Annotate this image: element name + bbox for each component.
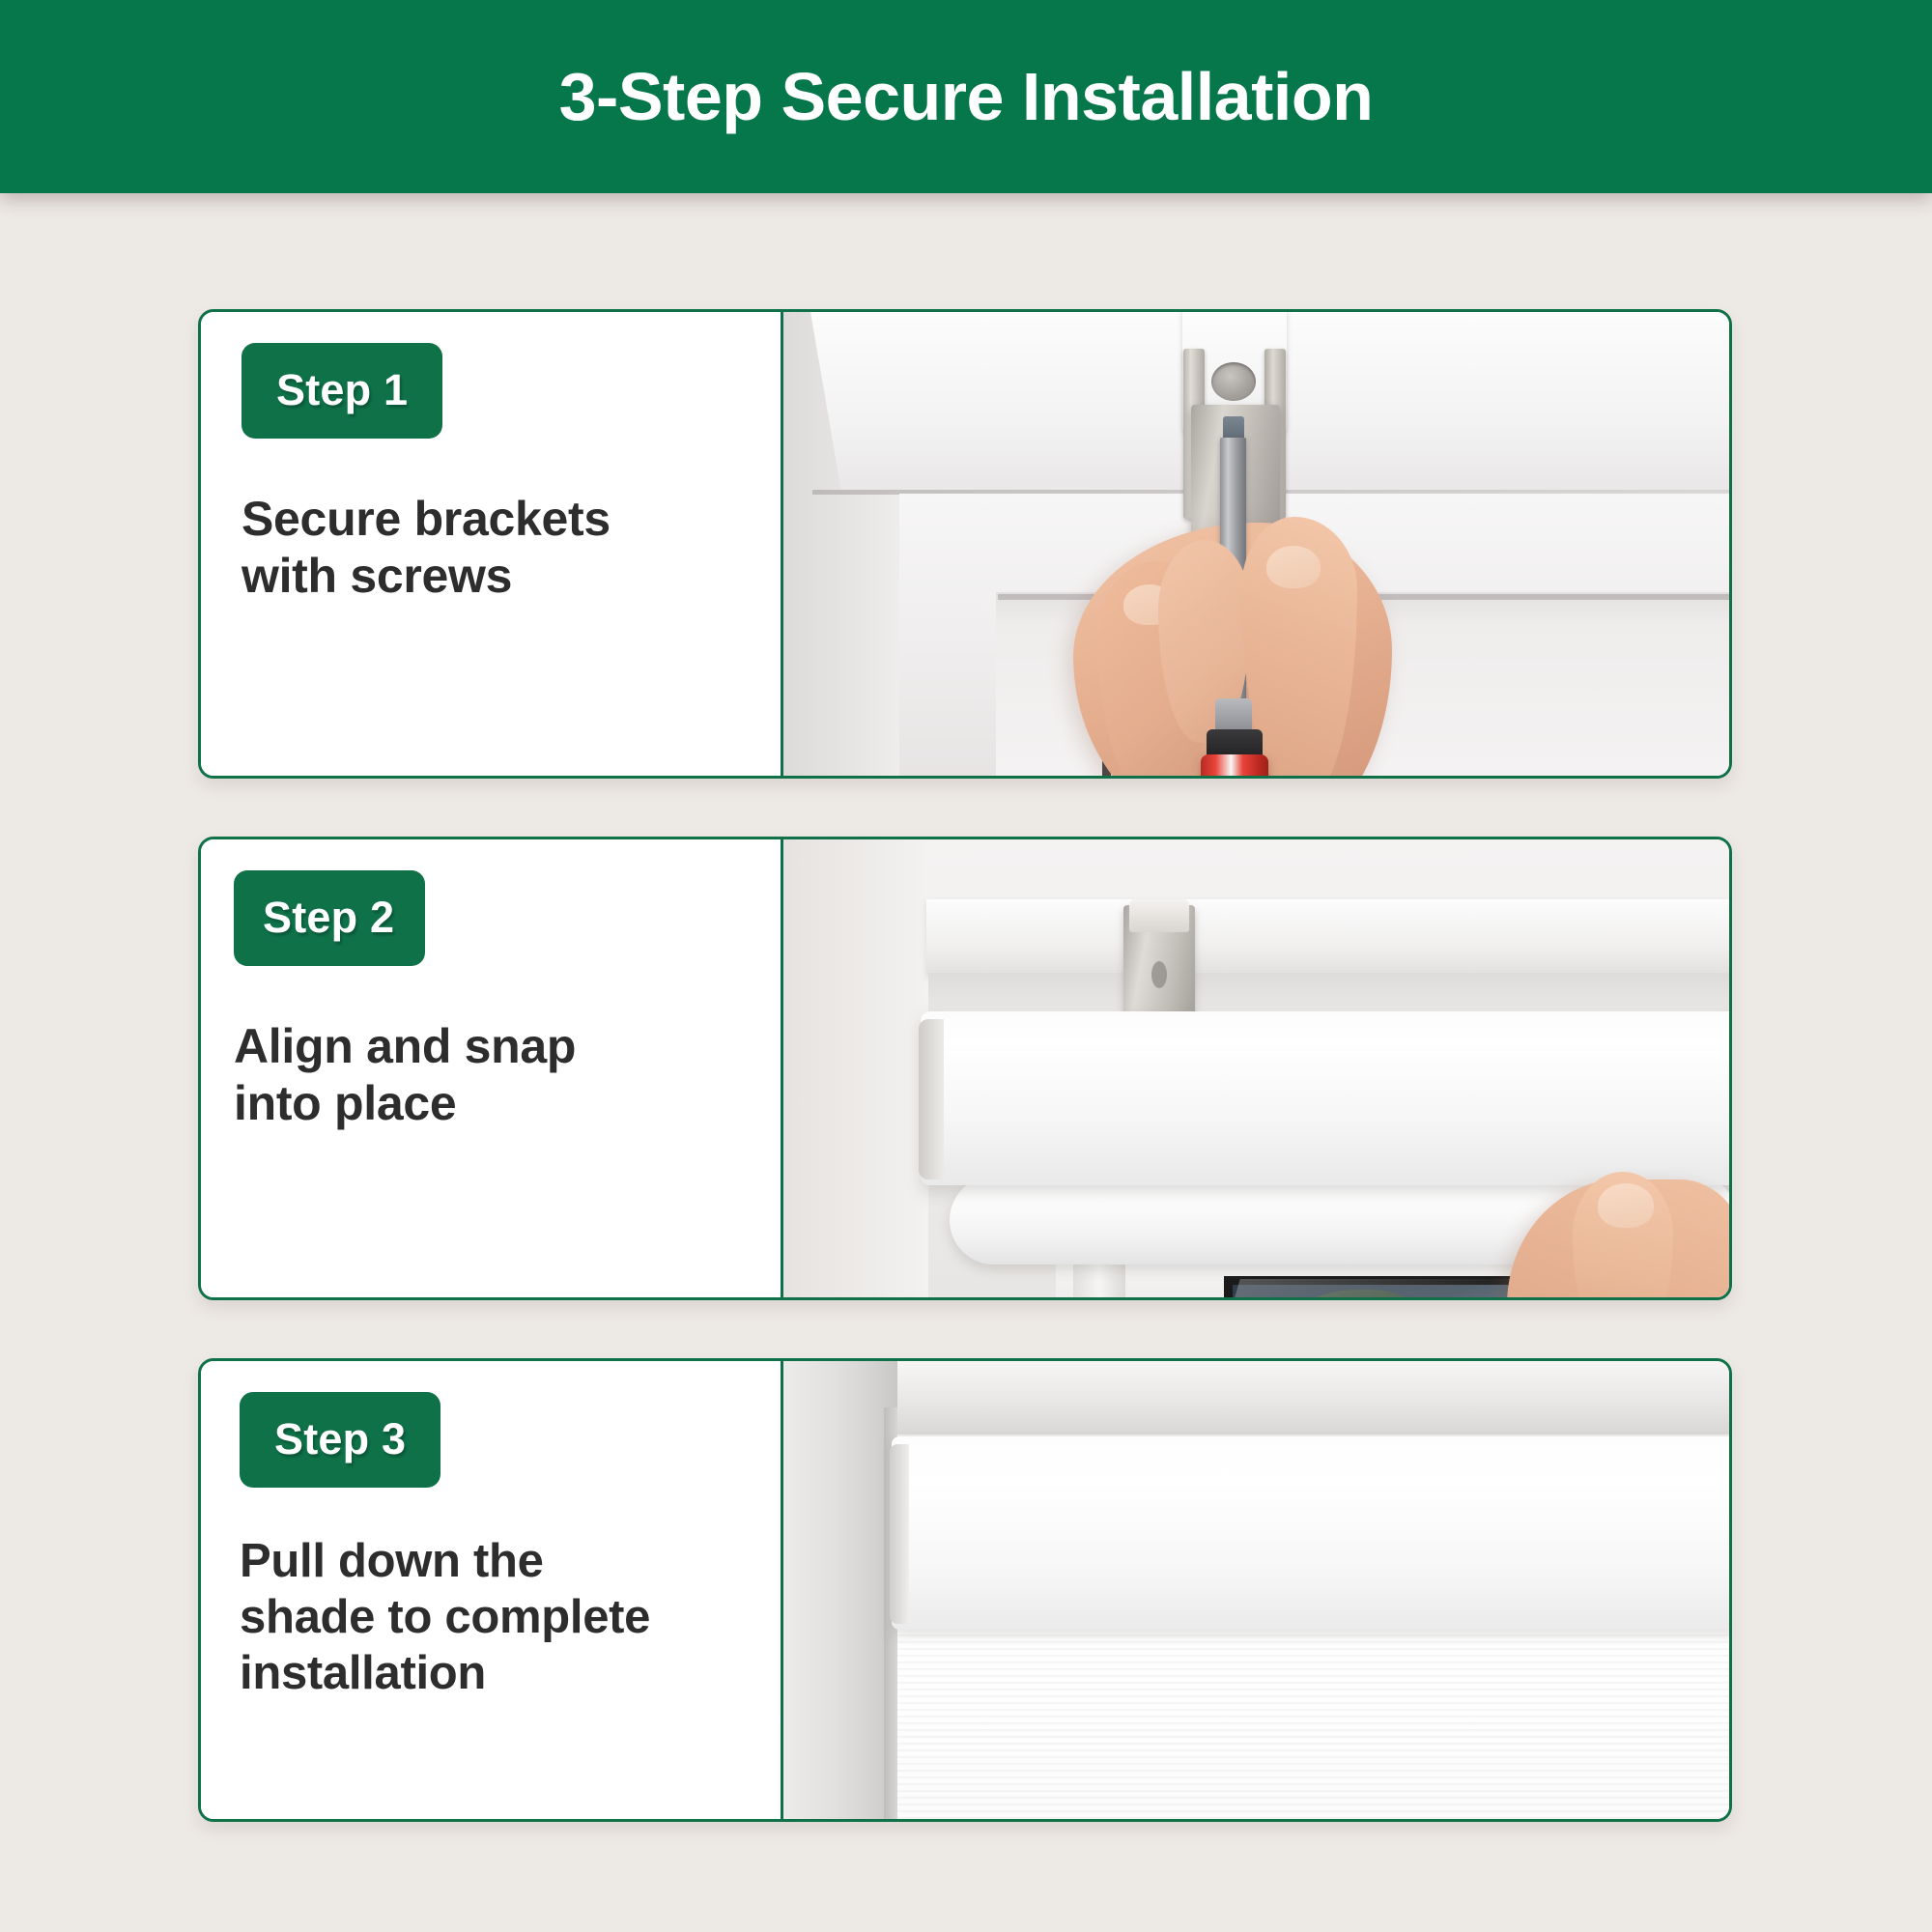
step-3-text-panel: Step 3 Pull down the shade to complete i… <box>201 1361 783 1819</box>
shade-valance <box>892 1436 1729 1630</box>
valance-end-cap <box>919 1019 944 1179</box>
step-card-3: Step 3 Pull down the shade to complete i… <box>198 1358 1732 1822</box>
screwdriver-handle <box>1201 754 1268 776</box>
step-1-badge: Step 1 <box>241 343 442 439</box>
page-title: 3-Step Secure Installation <box>559 63 1374 130</box>
step-2-photo-scene <box>783 839 1729 1297</box>
window-casing-top <box>783 1361 1729 1435</box>
bracket-screw-hole <box>1211 362 1256 401</box>
header-underside <box>928 973 1729 1013</box>
step-2-heading: Align and snap into place <box>234 1018 742 1132</box>
window-jamb-left <box>783 839 928 1297</box>
header-banner: 3-Step Secure Installation <box>0 0 1932 193</box>
shade-valance <box>921 1011 1729 1185</box>
step-2-photo <box>783 839 1729 1297</box>
shade-fabric <box>897 1628 1729 1819</box>
step-3-heading: Pull down the shade to complete installa… <box>240 1534 742 1701</box>
step-card-1: Step 1 Secure brackets with screws <box>198 309 1732 779</box>
window-casing-left <box>783 1361 897 1819</box>
steps-list: Step 1 Secure brackets with screws <box>198 309 1734 1822</box>
bracket-slot <box>1151 961 1167 988</box>
step-1-photo-scene <box>783 312 1729 776</box>
step-card-2: Step 2 Align and snap into place <box>198 837 1732 1300</box>
step-1-text-panel: Step 1 Secure brackets with screws <box>201 312 783 776</box>
step-3-badge: Step 3 <box>240 1392 440 1488</box>
step-1-photo <box>783 312 1729 776</box>
step-3-photo-scene <box>783 1361 1729 1819</box>
screwdriver-ferrule <box>1215 698 1252 733</box>
window-header-board <box>926 899 1729 975</box>
fingernail-index <box>1598 1183 1654 1228</box>
step-2-badge: Step 2 <box>234 870 425 966</box>
thumbnail <box>1266 546 1321 588</box>
step-1-heading: Secure brackets with screws <box>241 491 742 605</box>
bracket-clip <box>1129 899 1189 932</box>
step-3-photo <box>783 1361 1729 1819</box>
infographic-page: 3-Step Secure Installation Step 1 Secure… <box>0 0 1932 1932</box>
step-2-text-panel: Step 2 Align and snap into place <box>201 839 783 1297</box>
valance-end-cap <box>890 1444 909 1624</box>
